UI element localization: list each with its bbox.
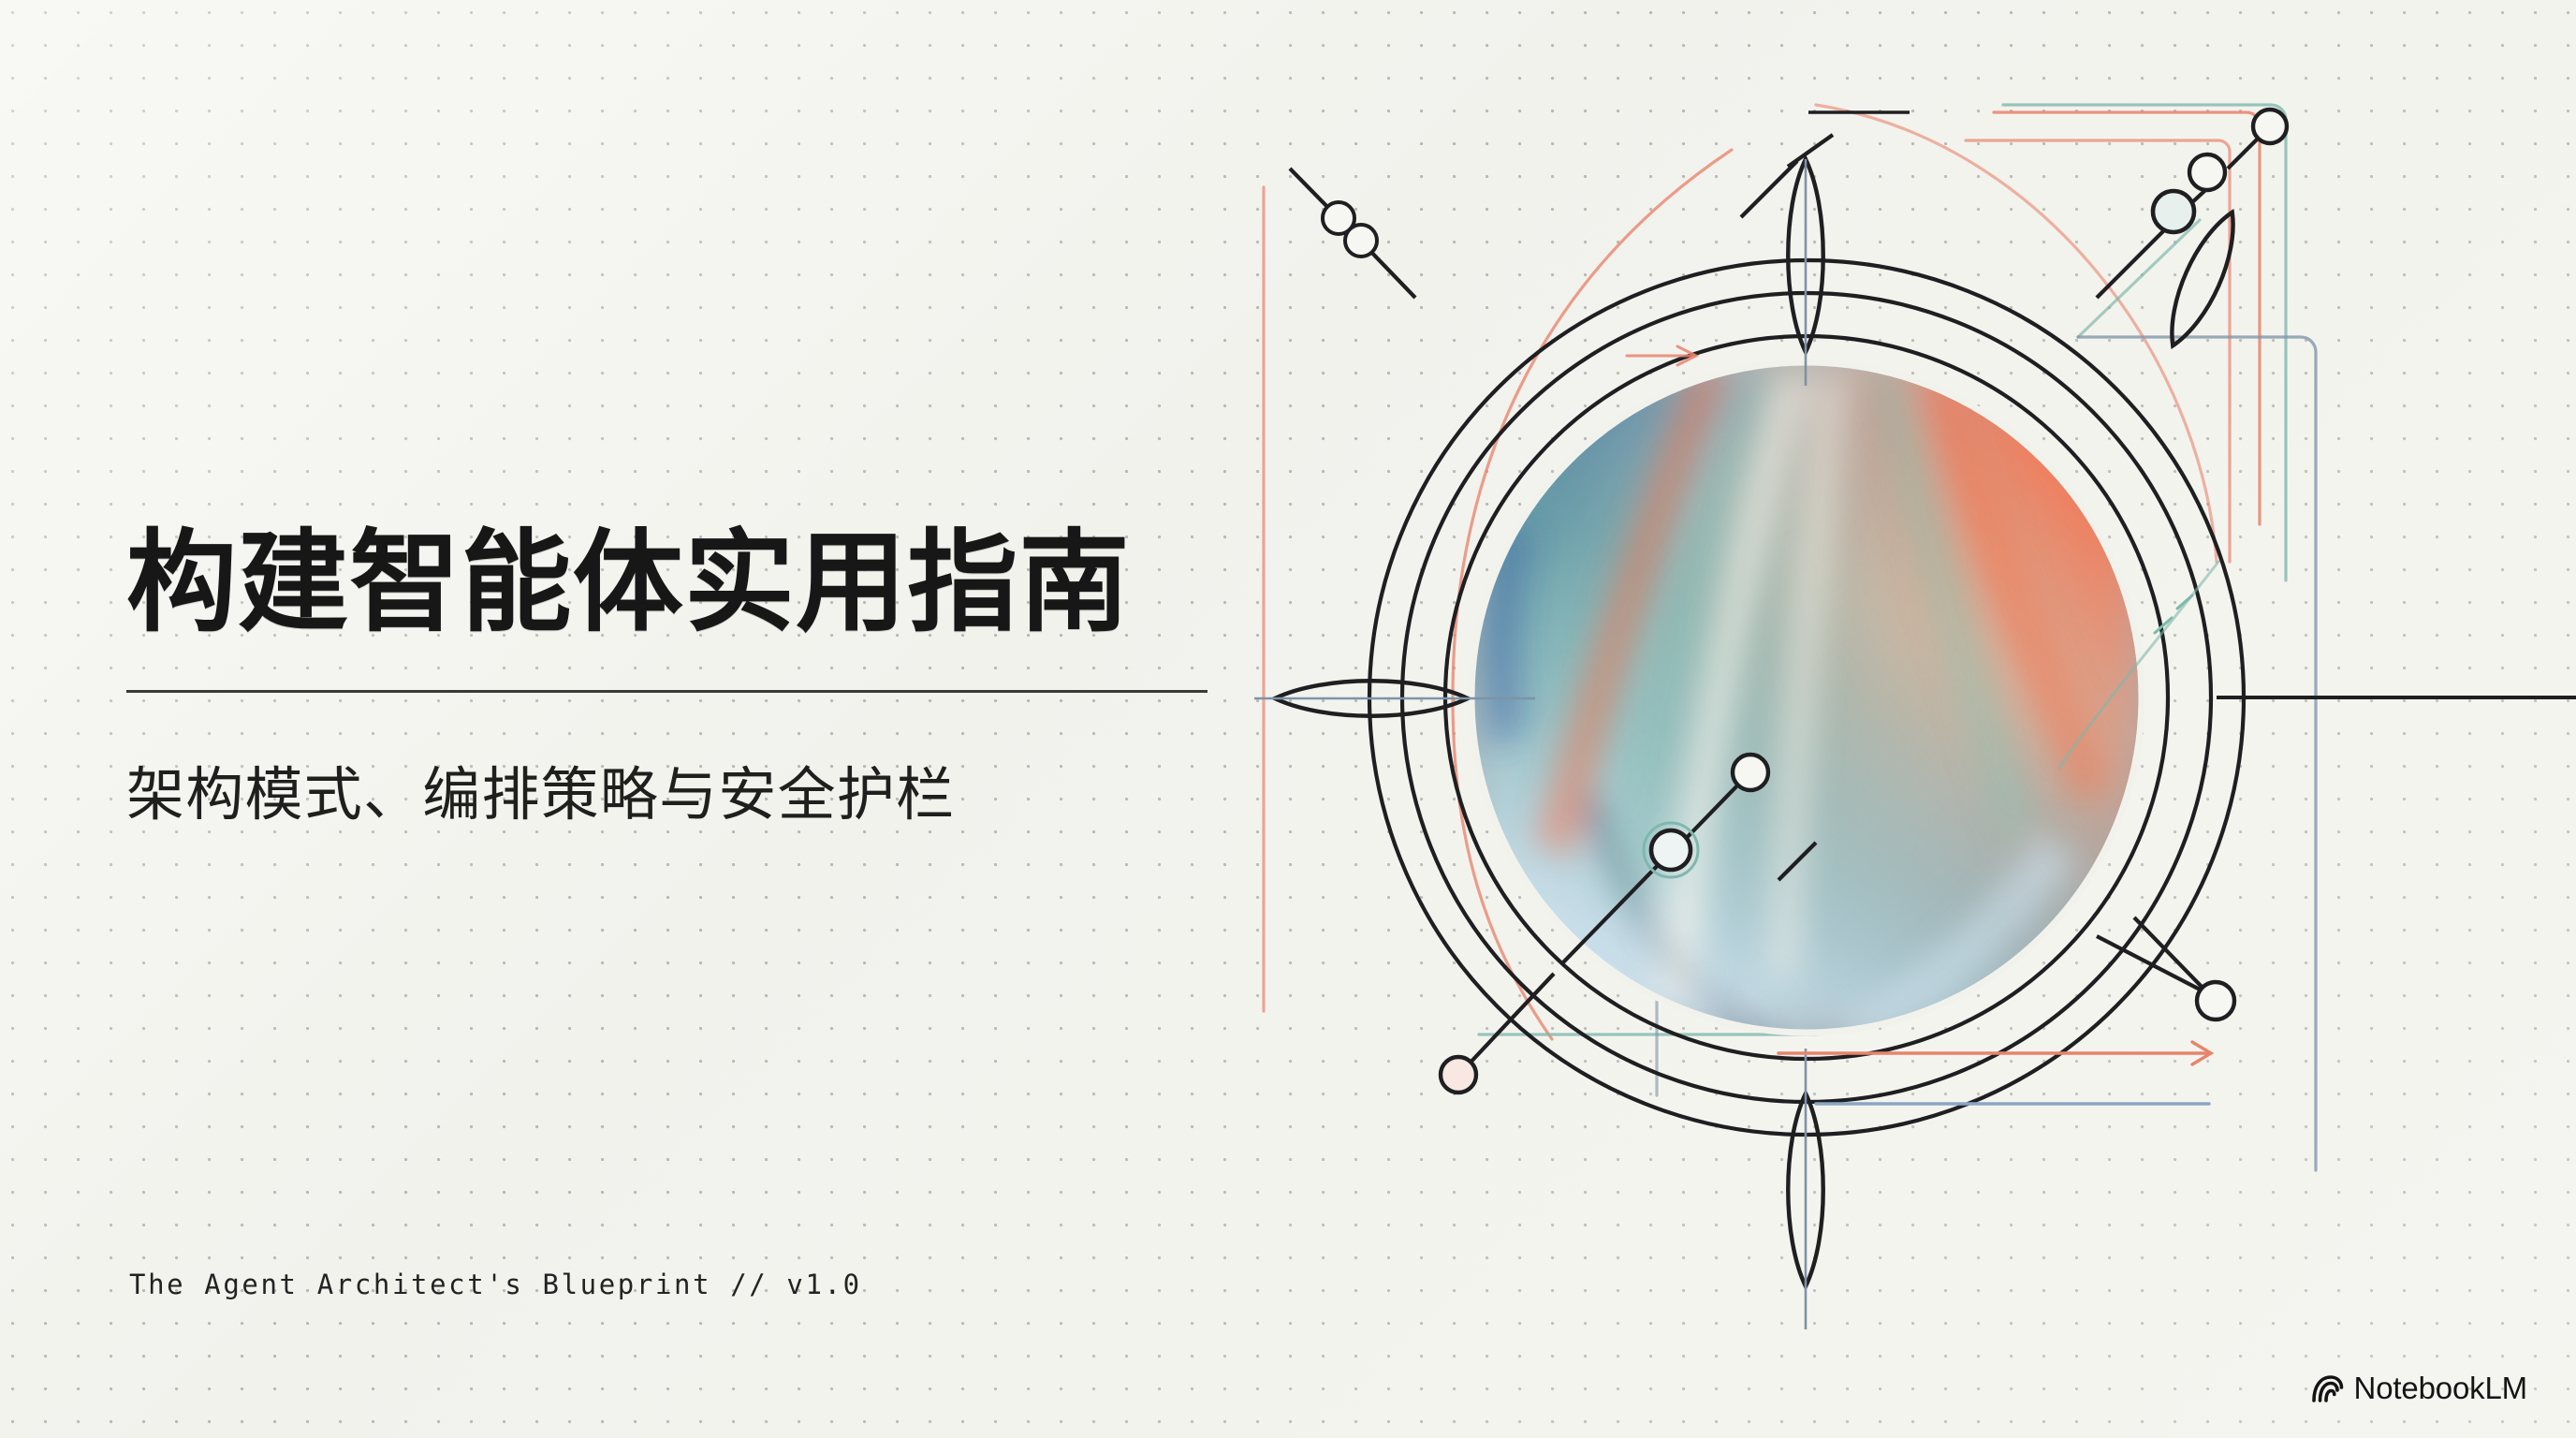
node-bottom-right xyxy=(2197,982,2234,1020)
node-bottom-left-upper xyxy=(1733,755,1768,790)
node-bottom-left-mid xyxy=(1651,830,1690,870)
notebooklm-spiral-icon xyxy=(2312,1374,2344,1402)
node-top-left-inner xyxy=(1345,225,1377,257)
leader-node-chain-1 xyxy=(2228,136,2261,169)
node-top-right-mid xyxy=(2189,154,2225,190)
title-block: 构建智能体实用指南 架构模式、编排策略与安全护栏 xyxy=(126,524,1278,831)
artwork-abstract-orb-blueprint xyxy=(1254,0,2576,1438)
brand-name: NotebookLM xyxy=(2354,1371,2527,1406)
brand-lockup: NotebookLM xyxy=(2312,1371,2527,1406)
title-divider-rule xyxy=(126,690,1207,693)
leader-br-1 xyxy=(2134,917,2207,992)
node-bottom-left-terminal xyxy=(1441,1057,1476,1093)
page-title: 构建智能体实用指南 xyxy=(126,524,1278,641)
node-top-right-inner xyxy=(2153,191,2194,232)
leader-br-angle xyxy=(2097,936,2209,994)
footer-note: The Agent Architect's Blueprint // v1.0 xyxy=(129,1269,862,1300)
slide-canvas: 构建智能体实用指南 架构模式、编排策略与安全护栏 The Agent Archi… xyxy=(0,0,2576,1438)
page-subtitle: 架构模式、编排策略与安全护栏 xyxy=(126,747,1278,831)
node-top-right-outer xyxy=(2253,110,2287,143)
gradient-orb xyxy=(1471,362,2142,1049)
leader-tr-diag-a xyxy=(1741,161,1797,217)
